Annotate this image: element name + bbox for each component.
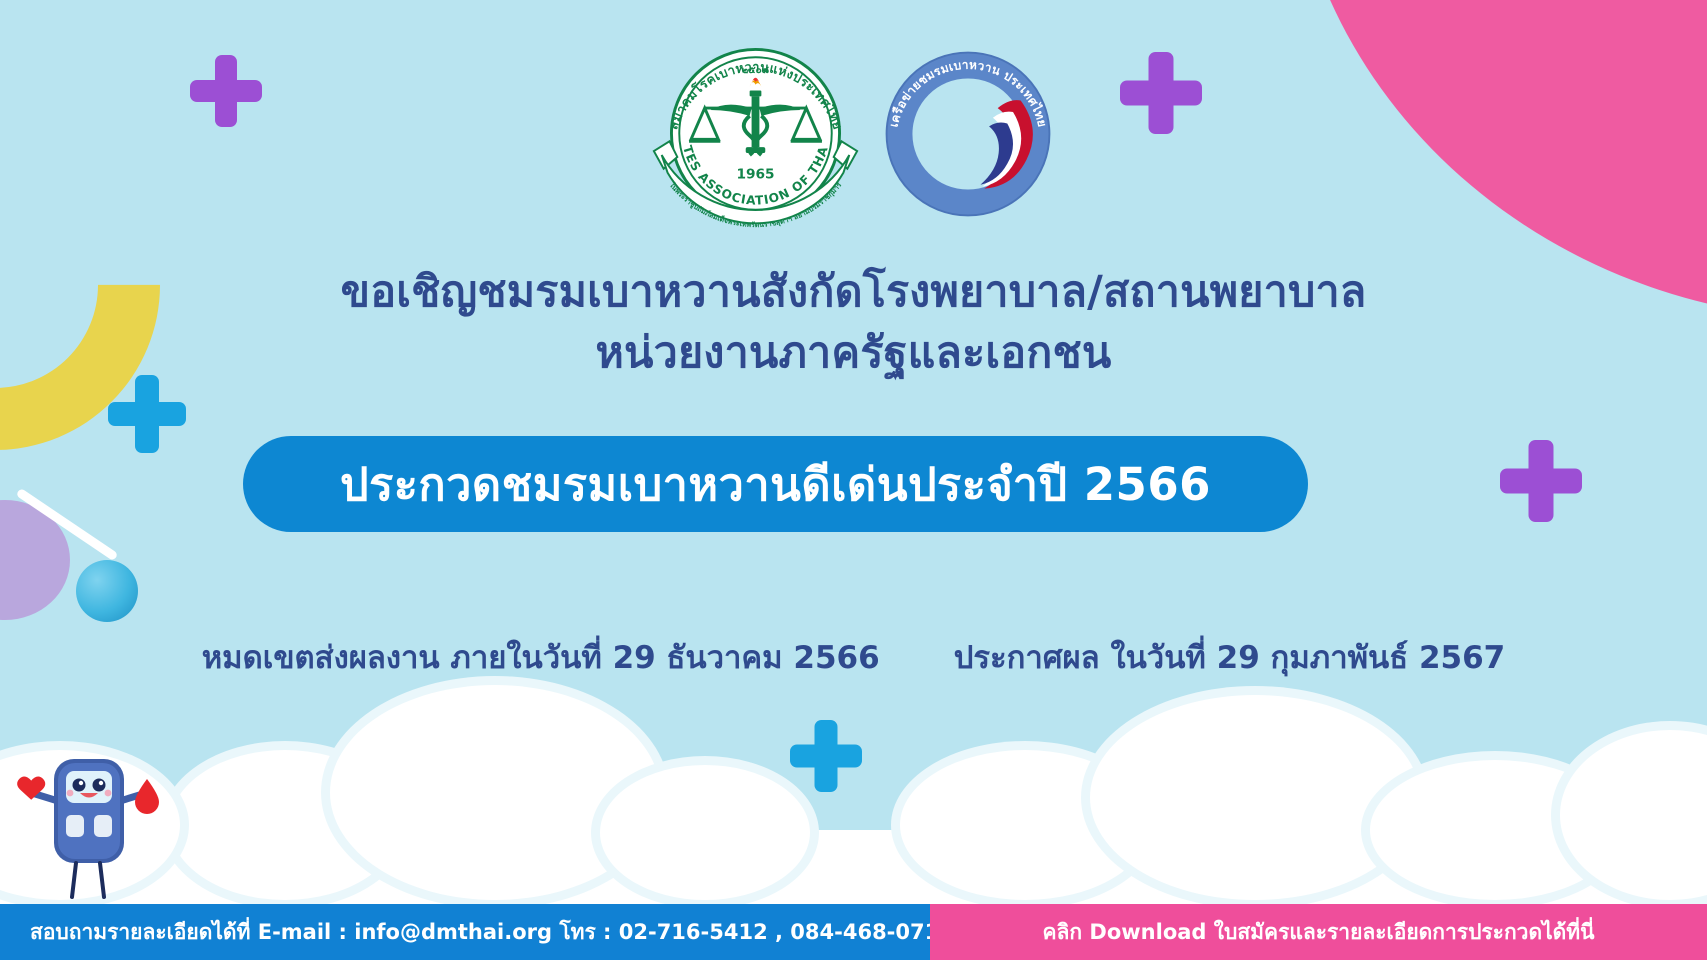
contest-title-banner[interactable]: ประกวดชมรมเบาหวานดีเด่นประจำปี 2566 bbox=[243, 436, 1308, 532]
plus-purple-mid-right-icon bbox=[1500, 440, 1582, 522]
submission-deadline: หมดเขตส่งผลงาน ภายในวันที่ 29 ธันวาคม 25… bbox=[202, 632, 880, 682]
cloud bbox=[330, 685, 660, 900]
cloud bbox=[600, 765, 810, 900]
svg-text:๒๕๐๘: ๒๕๐๘ bbox=[742, 65, 770, 76]
thailand-diabetes-club-network-logo: เครือข่ายชมรมเบาหวาน ประเทศไทย bbox=[877, 43, 1059, 225]
headline: ขอเชิญชมรมเบาหวานสังกัดโรงพยาบาล/สถานพยา… bbox=[0, 262, 1707, 384]
dates-row: หมดเขตส่งผลงาน ภายในวันที่ 29 ธันวาคม 25… bbox=[0, 632, 1707, 682]
footer-bar: สอบถามรายละเอียดได้ที่ E-mail : info@dmt… bbox=[0, 904, 1707, 960]
headline-line-2: หน่วยงานภาครัฐและเอกชน bbox=[0, 323, 1707, 384]
lollipop-head-decoration bbox=[76, 560, 138, 622]
contact-info-bar: สอบถามรายละเอียดได้ที่ E-mail : info@dmt… bbox=[0, 904, 930, 960]
glucose-meter-mascot bbox=[14, 735, 164, 900]
contest-title-label: ประกวดชมรมเบาหวานดีเด่นประจำปี 2566 bbox=[340, 448, 1211, 520]
result-announcement-date: ประกาศผล ในวันที่ 29 กุมภาพันธ์ 2567 bbox=[954, 632, 1506, 682]
download-link-text: คลิก Download ใบสมัครและรายละเอียดการประ… bbox=[1042, 916, 1594, 949]
logo-row: สมาคมโรคเบาหวานแห่งประเทศไทย ๒๕๐๘ bbox=[0, 26, 1707, 241]
poster-canvas: สมาคมโรคเบาหวานแห่งประเทศไทย ๒๕๐๘ bbox=[0, 0, 1707, 960]
diabetes-association-of-thailand-logo: สมาคมโรคเบาหวานแห่งประเทศไทย ๒๕๐๘ bbox=[648, 26, 863, 241]
plus-blue-mid-left-icon bbox=[108, 375, 186, 453]
contact-info-text: สอบถามรายละเอียดได้ที่ E-mail : info@dmt… bbox=[30, 916, 954, 949]
svg-text:1965: 1965 bbox=[736, 166, 774, 182]
download-link-bar[interactable]: คลิก Download ใบสมัครและรายละเอียดการประ… bbox=[930, 904, 1707, 960]
headline-line-1: ขอเชิญชมรมเบาหวานสังกัดโรงพยาบาล/สถานพยา… bbox=[0, 262, 1707, 323]
cloud bbox=[1090, 695, 1420, 900]
